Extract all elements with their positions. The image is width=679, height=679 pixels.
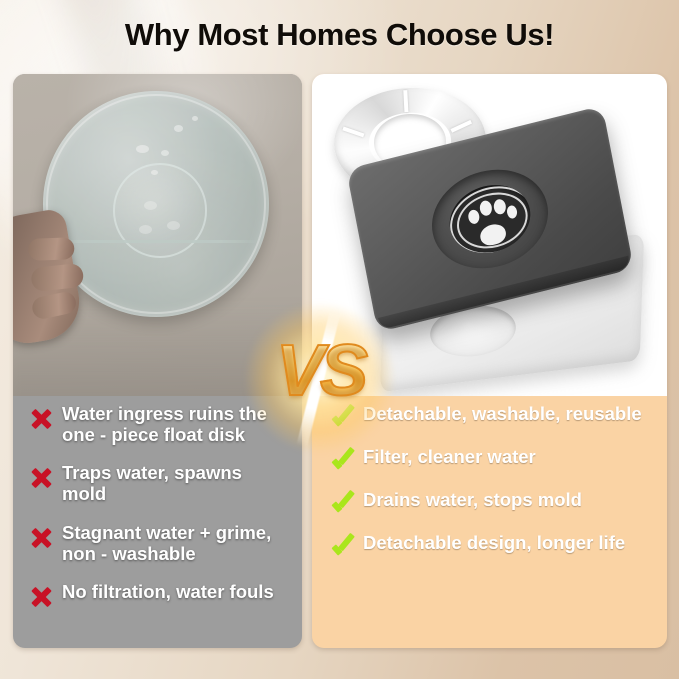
water-bubble: [174, 125, 183, 132]
comparison-poster: Why Most Homes Choose Us!: [0, 0, 679, 679]
list-item: Drains water, stops mold: [330, 490, 651, 517]
water-bubble: [192, 116, 198, 121]
cross-icon: [29, 526, 53, 550]
list-item-label: Drains water, stops mold: [363, 490, 582, 511]
list-item: Filter, cleaner water: [330, 447, 651, 474]
list-item: Water ingress ruins the one - piece floa…: [29, 404, 288, 445]
list-item: Traps water, spawns mold: [29, 463, 288, 504]
list-item-label: Detachable design, longer life: [363, 533, 625, 554]
cross-icon: [29, 407, 53, 431]
float-disk-inner-ring: [113, 163, 207, 257]
competitor-panel: Water ingress ruins the one - piece floa…: [13, 74, 302, 648]
finger: [30, 263, 84, 292]
drain-well: [424, 158, 557, 281]
list-item: Detachable, washable, reusable: [330, 404, 651, 431]
our-product-photo: [312, 74, 667, 396]
check-icon: [330, 536, 354, 560]
competitor-product-photo: [13, 74, 302, 396]
list-item-label: Water ingress ruins the one - piece floa…: [62, 404, 288, 445]
check-icon: [330, 493, 354, 517]
water-bubble: [161, 150, 169, 156]
list-item: Stagnant water + grime, non - washable: [29, 523, 288, 564]
list-item: No filtration, water fouls: [29, 582, 288, 609]
list-item-label: Detachable, washable, reusable: [363, 404, 642, 425]
list-item-label: Stagnant water + grime, non - washable: [62, 523, 288, 564]
float-disk-nub: [139, 225, 152, 234]
float-disk-nub: [144, 201, 157, 210]
check-icon: [330, 450, 354, 474]
check-icon: [330, 407, 354, 431]
cross-icon: [29, 585, 53, 609]
our-product-panel: Detachable, washable, reusable Filter, c…: [312, 74, 667, 648]
finger: [28, 237, 75, 261]
list-item-label: Traps water, spawns mold: [62, 463, 288, 504]
cross-icon: [29, 466, 53, 490]
finger: [30, 290, 78, 321]
paw-filter-grate: [444, 177, 536, 262]
list-item-label: Filter, cleaner water: [363, 447, 536, 468]
page-title: Why Most Homes Choose Us!: [0, 17, 679, 53]
list-item-label: No filtration, water fouls: [62, 582, 274, 603]
list-item: Detachable design, longer life: [330, 533, 651, 560]
our-product-feature-list: Detachable, washable, reusable Filter, c…: [312, 404, 667, 576]
water-bubble: [136, 145, 149, 153]
float-disk-nub: [167, 221, 180, 230]
competitor-feature-list: Water ingress ruins the one - piece floa…: [13, 404, 302, 627]
float-disk-seam: [52, 240, 260, 243]
